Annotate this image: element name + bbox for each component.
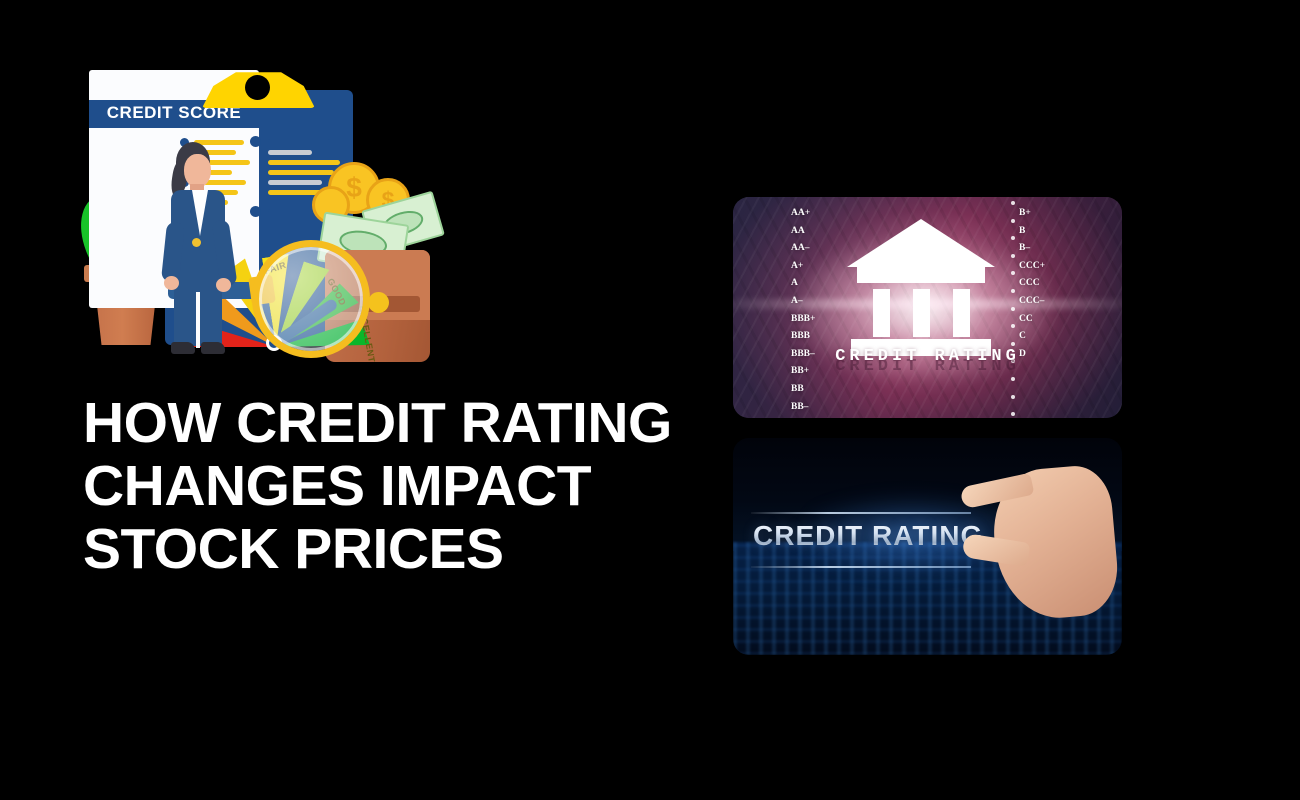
rating-bbb-plus: BBB+ xyxy=(791,311,815,329)
rating-b: B xyxy=(1019,223,1045,241)
bank-building-icon xyxy=(847,219,995,349)
rating-bbb: BBB xyxy=(791,328,815,346)
rating-bb-minus: BB– xyxy=(791,399,815,417)
rating-scale-left: AA+ AA AA– A+ A A– BBB+ BBB BBB– BB+ BB … xyxy=(791,205,815,416)
rating-bb: BB xyxy=(791,381,815,399)
credit-score-illustration: CREDIT SCORE xyxy=(80,60,450,360)
rating-c: C xyxy=(1019,328,1045,346)
rating-ccc-minus: CCC– xyxy=(1019,293,1045,311)
page-title: HOW CREDIT RATING CHANGES IMPACT STOCK P… xyxy=(83,392,683,581)
rating-aa-minus: AA– xyxy=(791,240,815,258)
rating-ccc-plus: CCC+ xyxy=(1019,258,1045,276)
rating-b-plus: B+ xyxy=(1019,205,1045,223)
rating-aa-plus: AA+ xyxy=(791,205,815,223)
rating-b-minus: B– xyxy=(1019,240,1045,258)
rating-scale-right: B+ B B– CCC+ CCC CCC– CC C D xyxy=(1019,205,1045,363)
credit-rating-caption: CREDIT RATING xyxy=(733,347,1122,366)
hand-card-rule-bottom xyxy=(751,566,971,568)
rating-a-minus: A– xyxy=(791,293,815,311)
credit-rating-bank-image: AA+ AA AA– A+ A A– BBB+ BBB BBB– BB+ BB … xyxy=(733,197,1122,418)
rating-ccc: CCC xyxy=(1019,275,1045,293)
rating-a-plus: A+ xyxy=(791,258,815,276)
credit-rating-hand-image: CREDIT RATING xyxy=(733,438,1122,655)
hand-card-rule-top xyxy=(751,512,971,514)
rating-aa: AA xyxy=(791,223,815,241)
rating-cc: CC xyxy=(1019,311,1045,329)
poster-canvas: CREDIT SCORE xyxy=(0,0,1300,800)
rating-a: A xyxy=(791,275,815,293)
